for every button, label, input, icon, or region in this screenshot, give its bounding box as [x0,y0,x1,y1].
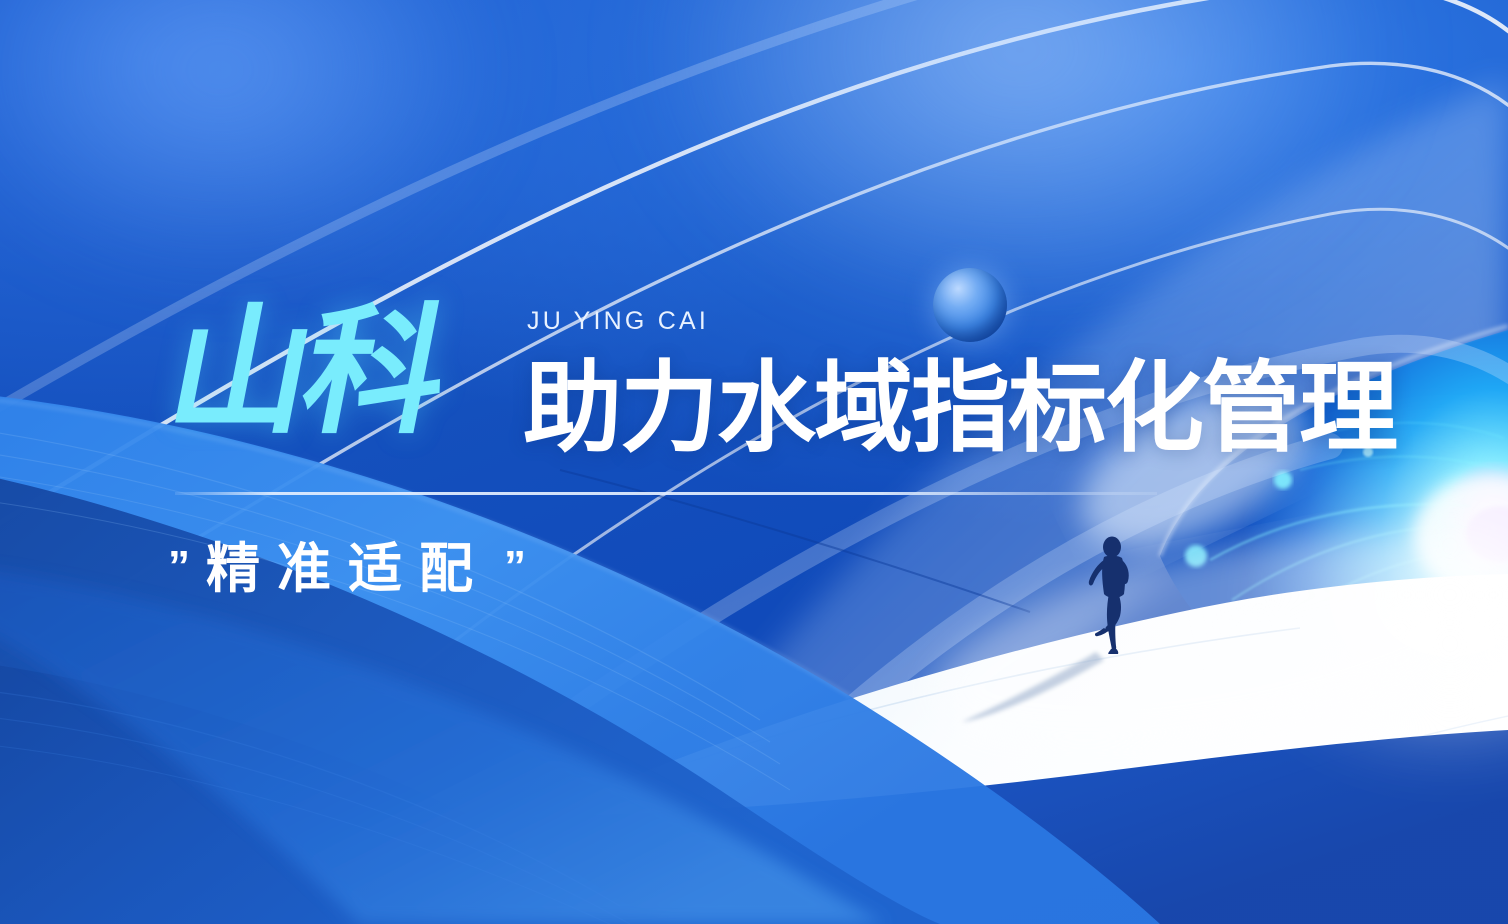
quote-close: ” [504,542,526,591]
quote-open: ” [168,542,190,591]
brand-logo: 山科 [158,302,453,442]
divider-line [175,492,1157,495]
banner-content: 山科 JU YING CAI 助力水域指标化管理 ”精准适配” [0,0,1508,924]
subtitle-text: 精准适配 [206,539,490,599]
subtitle-slogan: ”精准适配” [168,542,526,596]
promotional-banner: 山科 JU YING CAI 助力水域指标化管理 ”精准适配” [0,0,1508,924]
headline-title: 助力水域指标化管理 [523,358,1396,457]
brand-pinyin: JU YING CAI [527,309,709,334]
